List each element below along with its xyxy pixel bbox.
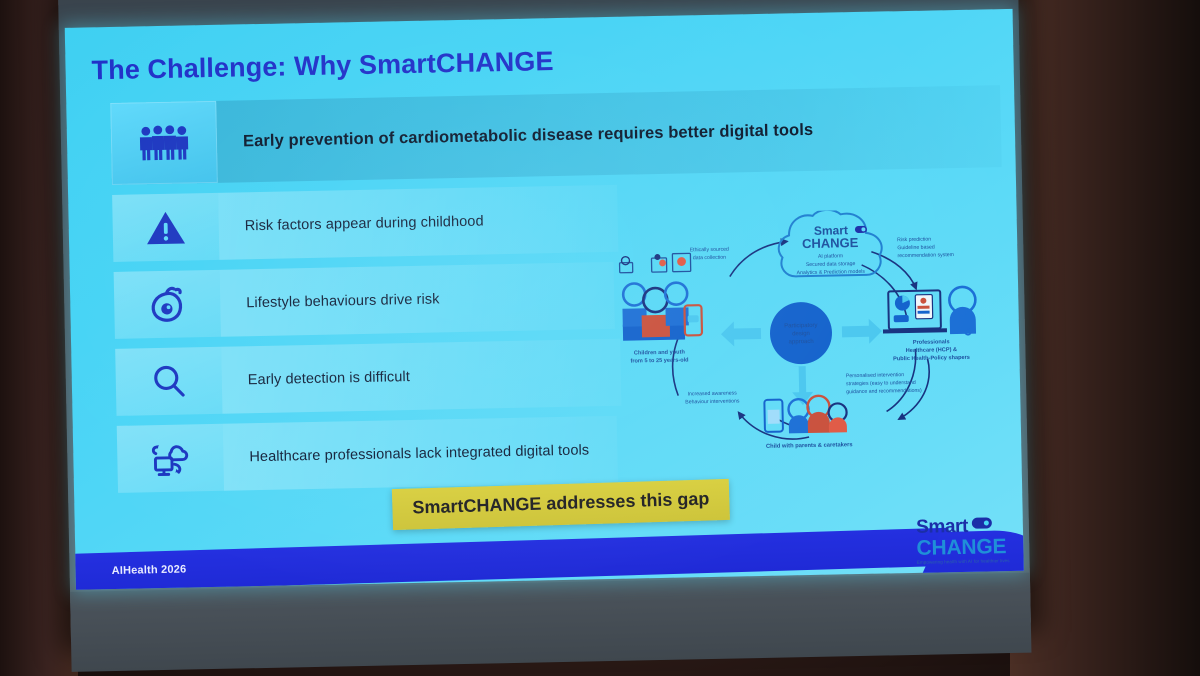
- logo-line1: Smart: [916, 516, 968, 536]
- professionals-node: Professionals Healthcare (HCP) & Public …: [882, 287, 976, 363]
- list-item-body: Risk factors appear during childhood: [218, 185, 618, 260]
- wall-right: [1010, 0, 1200, 676]
- svg-text:data collection: data collection: [693, 255, 726, 262]
- list-item-featured[interactable]: Early prevention of cardiometabolic dise…: [110, 85, 1001, 185]
- list-item-label: Early detection is difficult: [248, 369, 410, 388]
- list-item-label: Risk factors appear during childhood: [245, 213, 484, 234]
- svg-text:strategies (easy to understand: strategies (easy to understand: [846, 380, 916, 387]
- professionals-label-1: Professionals: [913, 339, 950, 346]
- list-item-hcp-tools[interactable]: Healthcare professionals lack integrated…: [117, 416, 618, 493]
- children-label-1: Children and youth: [634, 349, 686, 356]
- participatory-design-node: Participatory design approach: [769, 302, 832, 365]
- child-with-parents-node: Child with parents & caretakers: [764, 395, 852, 450]
- logo-pill-icon: [972, 517, 992, 528]
- group-of-people-icon: [110, 101, 218, 185]
- cloud-detail-2: Secured data storage: [806, 261, 856, 268]
- list-item-body: Early detection is difficult: [221, 339, 621, 414]
- photo-of-projected-slide: The Challenge: Why SmartCHANGE: [0, 0, 1200, 676]
- svg-text:recommendation system: recommendation system: [897, 252, 954, 259]
- svg-text:guidance and recommendations): guidance and recommendations): [846, 388, 922, 396]
- list-item-label: Early prevention of cardiometabolic dise…: [243, 120, 814, 150]
- center-line2: design: [792, 331, 810, 337]
- center-line1: Participatory: [784, 323, 817, 330]
- list-item-label: Healthcare professionals lack integrated…: [249, 442, 589, 465]
- smartchange-cycle-diagram: Smart CHANGE AI platform Secured data st…: [609, 207, 1014, 465]
- cloud-detail-1: AI platform: [818, 253, 843, 260]
- page-title: The Challenge: Why SmartCHANGE: [91, 46, 554, 86]
- list-item-body: Early prevention of cardiometabolic dise…: [216, 85, 1001, 183]
- logo-line2: CHANGE: [916, 536, 1009, 559]
- list-item-early-detection[interactable]: Early detection is difficult: [115, 339, 621, 416]
- svg-text:Increased awareness: Increased awareness: [687, 390, 737, 397]
- children-and-youth-node: Children and youth from 5 to 25 years-ol…: [619, 253, 702, 365]
- svg-text:Risk prediction: Risk prediction: [897, 237, 931, 244]
- magnifying-glass-icon: [115, 347, 222, 416]
- list-item-body: Healthcare professionals lack integrated…: [223, 416, 618, 491]
- smartchange-logo: Smart CHANGE Empowering health with AI f…: [916, 516, 1010, 565]
- svg-text:Behaviour interventions: Behaviour interventions: [685, 398, 740, 405]
- avocado-icon: [114, 270, 221, 339]
- risk-prediction-label: Risk prediction Guideline based recommen…: [897, 236, 954, 259]
- svg-text:Personalised intervention: Personalised intervention: [846, 372, 904, 379]
- center-line3: approach: [789, 339, 814, 346]
- professionals-label-3: Public Health-Policy shapers: [893, 355, 970, 363]
- list-item-label: Lifestyle behaviours drive risk: [246, 291, 440, 311]
- child-parents-label: Child with parents & caretakers: [766, 442, 853, 450]
- increased-awareness-label: Increased awareness Behaviour interventi…: [685, 390, 740, 405]
- personalised-intervention-label: Personalised intervention strategies (ea…: [846, 372, 922, 396]
- warning-triangle-icon: [112, 193, 219, 262]
- footer-event-label: AIHealth 2026: [112, 564, 187, 577]
- list-item-body: Lifestyle behaviours drive risk: [220, 262, 615, 337]
- monitor-cloud-icon: [117, 424, 224, 493]
- children-label-2: from 5 to 25 years-old: [630, 357, 689, 364]
- list-item-risk-factors[interactable]: Risk factors appear during childhood: [112, 185, 618, 262]
- svg-text:Guideline based: Guideline based: [897, 244, 935, 251]
- projection-screen: The Challenge: Why SmartCHANGE: [58, 0, 1031, 652]
- list-item-lifestyle[interactable]: Lifestyle behaviours drive risk: [114, 262, 615, 339]
- professionals-label-2: Healthcare (HCP) &: [906, 347, 957, 354]
- svg-text:Ethically sourced: Ethically sourced: [690, 247, 729, 254]
- cloud-brand-line2: CHANGE: [802, 235, 859, 251]
- presentation-slide: The Challenge: Why SmartCHANGE: [65, 9, 1024, 590]
- gap-callout-text: SmartCHANGE addresses this gap: [412, 488, 710, 517]
- ethically-sourced-label: Ethically sourced data collection: [690, 247, 730, 262]
